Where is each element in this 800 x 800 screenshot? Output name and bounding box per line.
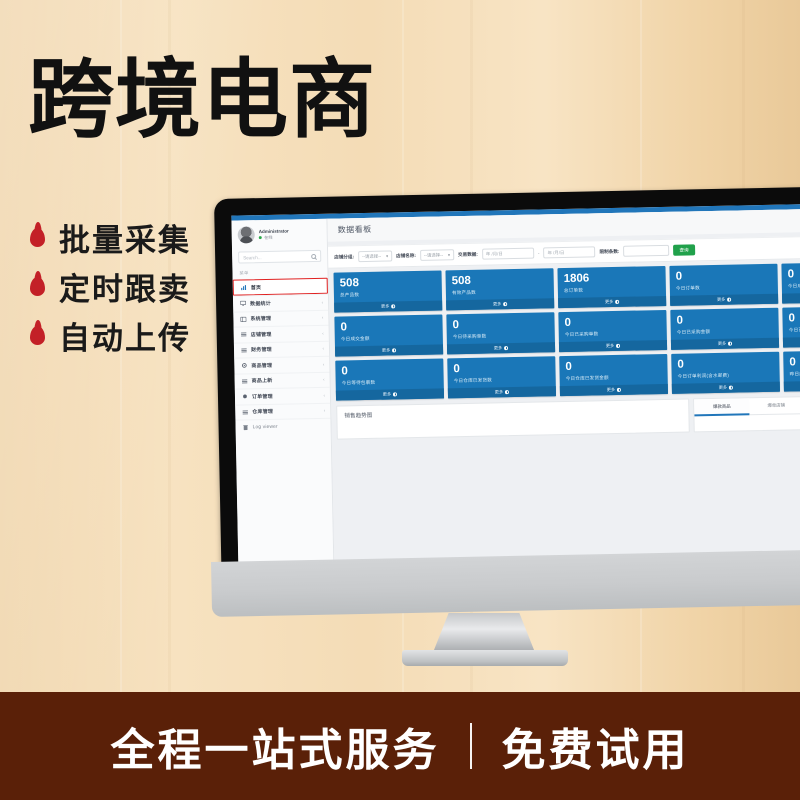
arrow-circle-icon — [616, 344, 620, 348]
kpi-card-grid: 508总产品数 更多 508有效产品数 更多 1806总订单数 更多 0今日 — [328, 257, 800, 401]
arrow-circle-icon — [392, 348, 396, 352]
list-icon — [241, 347, 247, 353]
list-item: 自动上传 — [30, 311, 191, 360]
chevron-left-icon: ‹ — [323, 362, 325, 367]
shop-name-value: --请选择-- — [424, 252, 443, 258]
monitor-bezel: Administrator 在线 Search... 菜单 — [214, 185, 800, 564]
kpi-label: 今日已取消订单金额 — [789, 326, 800, 334]
shop-group-value: --请选择-- — [362, 253, 381, 259]
kpi-value: 0 — [788, 267, 800, 281]
kpi-label: 总订单数 — [564, 286, 660, 294]
kpi-value: 0 — [340, 320, 436, 334]
kpi-label: 今日成交单数 — [788, 282, 800, 290]
gear-icon — [241, 363, 247, 369]
sidebar-nav: 首页 数据统计 ‹ 系统管理 ‹ — [233, 278, 331, 435]
banner-left-text: 全程一站式服务 — [111, 714, 440, 778]
shop-group-label: 店铺分组: — [334, 254, 354, 260]
droplet-icon — [30, 228, 45, 247]
kpi-label: 总产品数 — [340, 291, 436, 299]
ranking-panel: 爆款商品 爆单店铺 店铺统计 店铺数据 — [693, 394, 800, 432]
sidebar-item-label: Log viewer — [253, 424, 326, 430]
sidebar-item-label: 商品上新 — [252, 376, 324, 384]
kpi-more-label: 更多 — [494, 345, 503, 351]
kpi-more-link[interactable]: 更多 — [559, 340, 667, 352]
kpi-value: 0 — [453, 361, 549, 375]
shop-group-select[interactable]: --请选择-- ▾ — [358, 250, 392, 262]
arrow-circle-icon — [504, 346, 508, 350]
kpi-value: 0 — [677, 357, 773, 371]
monitor-stand — [432, 613, 536, 655]
trash-icon — [243, 425, 249, 431]
kpi-card[interactable]: 0今日等待包裹数 更多 — [335, 358, 444, 400]
kpi-more-link[interactable]: 更多 — [558, 296, 666, 308]
main-content: 数据看板 店铺分组: --请选择-- ▾ 店铺名称: --请选择-- ▾ — [327, 207, 800, 562]
monitor-base — [402, 650, 568, 666]
kpi-label: 今日已采购单数 — [565, 330, 661, 338]
kpi-more-label: 更多 — [383, 391, 392, 397]
kpi-card[interactable]: 0今日订单利润(含水邮费) 更多 — [671, 352, 780, 394]
arrow-circle-icon — [505, 390, 509, 394]
droplet-icon — [30, 326, 45, 345]
chevron-left-icon: ‹ — [324, 408, 326, 413]
arrow-circle-icon — [617, 388, 621, 392]
chevron-left-icon: ‹ — [322, 331, 324, 336]
search-icon — [311, 253, 316, 258]
sidebar-item-label: 财务管理 — [251, 345, 323, 353]
kpi-card[interactable]: 508总产品数 更多 — [334, 270, 443, 312]
sidebar-item-label: 系统管理 — [250, 314, 322, 322]
date-to-placeholder: 年 /月/日 — [547, 249, 564, 255]
kpi-value: 0 — [788, 311, 800, 325]
sidebar-item-home[interactable]: 首页 — [233, 278, 328, 296]
kpi-card[interactable]: 0今日已采购单数 更多 — [558, 310, 667, 352]
search-placeholder: Search... — [243, 254, 311, 260]
grid-icon — [240, 316, 246, 322]
kpi-more-link[interactable]: 更多 — [782, 291, 800, 303]
arrow-circle-icon — [729, 386, 733, 390]
tab-hot-products[interactable]: 爆款商品 — [694, 398, 749, 416]
shop-name-label: 店铺名称: — [396, 252, 416, 258]
kpi-label: 今日订单数 — [676, 284, 772, 292]
kpi-more-link[interactable]: 更多 — [670, 294, 778, 306]
droplet-icon — [30, 277, 45, 296]
kpi-value: 0 — [565, 359, 661, 373]
search-input[interactable]: Search... — [238, 250, 321, 264]
app-screen: Administrator 在线 Search... 菜单 — [231, 202, 800, 564]
kpi-label: 昨日成交订单金额 — [790, 370, 800, 378]
status-label: 在线 — [264, 234, 273, 240]
kpi-more-label: 更多 — [493, 301, 502, 307]
kpi-card[interactable]: 0昨日成交订单金额 更多 — [783, 349, 800, 391]
kpi-label: 今日成交金额 — [341, 335, 437, 343]
arrow-circle-icon — [391, 304, 395, 308]
date-from-placeholder: 年 /月/日 — [486, 251, 503, 257]
kpi-more-label: 更多 — [718, 341, 727, 347]
kpi-more-label: 更多 — [382, 347, 391, 353]
kpi-card[interactable]: 0今日成交金额 更多 — [334, 314, 443, 356]
list-icon — [241, 332, 247, 338]
kpi-card[interactable]: 508有效产品数 更多 — [445, 268, 554, 310]
online-dot-icon — [259, 236, 262, 239]
sidebar-item-label: 店铺管理 — [251, 330, 323, 338]
chevron-down-icon: ▾ — [448, 252, 450, 257]
sidebar: Administrator 在线 Search... 菜单 — [231, 219, 334, 564]
date-range-separator: - — [538, 250, 540, 256]
avatar — [238, 226, 255, 243]
kpi-more-link[interactable]: 更多 — [447, 342, 555, 354]
arrow-circle-icon — [615, 300, 619, 304]
list-icon — [242, 409, 248, 415]
sidebar-item-label: 仓库管理 — [252, 407, 324, 415]
kpi-card[interactable]: 1806总订单数 更多 — [557, 266, 666, 308]
kpi-card[interactable]: 0今日成交单数 更多 — [781, 261, 800, 303]
kpi-value: 0 — [676, 313, 772, 327]
date-from-input[interactable]: 年 /月/日 — [482, 248, 534, 260]
chevron-left-icon: ‹ — [322, 300, 324, 305]
kpi-label: 今日订单利润(含水邮费) — [678, 372, 774, 380]
kpi-more-link[interactable]: 更多 — [671, 338, 779, 350]
shop-name-select[interactable]: --请选择-- ▾ — [420, 249, 454, 261]
hero-title: 跨境电商 — [28, 52, 376, 148]
sales-trend-panel: 销售趋势图 — [336, 398, 690, 439]
feature-label: 批量采集 — [59, 215, 191, 260]
kpi-label: 有效产品数 — [452, 288, 548, 296]
sidebar-item-label: 首页 — [251, 282, 322, 290]
bottom-banner: 全程一站式服务 免费试用 — [0, 692, 800, 800]
kpi-label: 今日仓库已发货数 — [454, 376, 550, 384]
kpi-more-link[interactable]: 更多 — [784, 379, 800, 391]
user-profile[interactable]: Administrator 在线 — [231, 219, 327, 249]
panel-title: 销售趋势图 — [344, 405, 681, 420]
banner-divider — [470, 723, 472, 769]
arrow-circle-icon — [727, 298, 731, 302]
sidebar-item-log-viewer[interactable]: Log viewer — [235, 418, 330, 435]
feature-label: 自动上传 — [59, 313, 191, 358]
search-button[interactable]: 查询 — [673, 244, 694, 255]
arrow-circle-icon — [503, 302, 507, 306]
kpi-more-label: 更多 — [495, 389, 504, 395]
kpi-label: 今日已采购金额 — [677, 328, 773, 336]
kpi-value: 0 — [341, 364, 437, 378]
kpi-label: 今日待采购单数 — [453, 332, 549, 340]
chart-bar-icon — [241, 284, 247, 290]
chevron-down-icon: ▾ — [386, 254, 388, 259]
status-badge: 在线 — [259, 234, 289, 241]
kpi-more-label: 更多 — [605, 299, 614, 305]
page-title: 数据看板 — [338, 213, 800, 236]
list-icon — [242, 378, 248, 384]
kpi-card[interactable]: 0今日已采购金额 更多 — [670, 308, 779, 350]
kpi-card[interactable]: 0今日仓库已发货金额 更多 — [559, 354, 668, 396]
arrow-circle-icon — [393, 392, 397, 396]
tab-bar: 爆款商品 爆单店铺 店铺统计 店铺数据 — [694, 395, 800, 416]
banner-right-text: 免费试用 — [502, 714, 690, 778]
kpi-value: 508 — [340, 276, 436, 290]
kpi-value: 508 — [452, 273, 548, 287]
limit-count-label: 限制条数: — [599, 248, 619, 254]
kpi-more-link[interactable]: 更多 — [783, 335, 800, 347]
limit-count-input[interactable] — [623, 245, 669, 257]
kpi-label: 今日等待包裹数 — [342, 379, 438, 387]
kpi-label: 今日仓库已发货金额 — [566, 374, 662, 382]
sidebar-item-label: 订单管理 — [252, 392, 324, 400]
sidebar-item-label: 商品管理 — [251, 361, 323, 369]
kpi-card[interactable]: 0今日仓库已发货数 更多 — [447, 356, 556, 398]
arrow-circle-icon — [728, 342, 732, 346]
kpi-value: 0 — [452, 317, 548, 331]
kpi-more-label: 更多 — [719, 385, 728, 391]
kpi-more-label: 更多 — [606, 343, 615, 349]
chevron-left-icon: ‹ — [323, 393, 325, 398]
hero-feature-list: 批量采集 定时跟卖 自动上传 — [30, 213, 191, 360]
monitor-frame: Administrator 在线 Search... 菜单 — [214, 185, 800, 564]
kpi-more-label: 更多 — [381, 304, 390, 310]
kpi-more-link[interactable]: 更多 — [335, 344, 443, 356]
feature-label: 定时跟卖 — [59, 264, 191, 309]
kpi-value: 0 — [676, 269, 772, 283]
chevron-left-icon: ‹ — [322, 346, 324, 351]
kpi-more-label: 更多 — [717, 297, 726, 303]
kpi-card[interactable]: 0今日订单数 更多 — [669, 264, 778, 306]
chevron-left-icon: ‹ — [322, 315, 324, 320]
list-item: 批量采集 — [30, 213, 191, 262]
chevron-left-icon: ‹ — [323, 377, 325, 382]
sidebar-item-label: 数据统计 — [250, 299, 322, 307]
date-to-input[interactable]: 年 /月/日 — [543, 246, 595, 258]
kpi-value: 1806 — [564, 271, 660, 285]
circle-icon — [242, 394, 248, 400]
kpi-value: 0 — [789, 355, 800, 369]
list-item: 定时跟卖 — [30, 262, 191, 311]
kpi-more-link[interactable]: 更多 — [446, 298, 554, 310]
kpi-more-link[interactable]: 更多 — [334, 300, 442, 312]
transaction-date-label: 交易数据: — [458, 251, 478, 257]
tab-hot-shops[interactable]: 爆单店铺 — [749, 397, 800, 415]
kpi-card[interactable]: 0今日待采购单数 更多 — [446, 312, 555, 354]
kpi-value: 0 — [564, 315, 660, 329]
kpi-card[interactable]: 0今日已取消订单金额 更多 — [782, 305, 800, 347]
monitor-icon — [240, 301, 246, 307]
kpi-more-label: 更多 — [607, 387, 616, 393]
